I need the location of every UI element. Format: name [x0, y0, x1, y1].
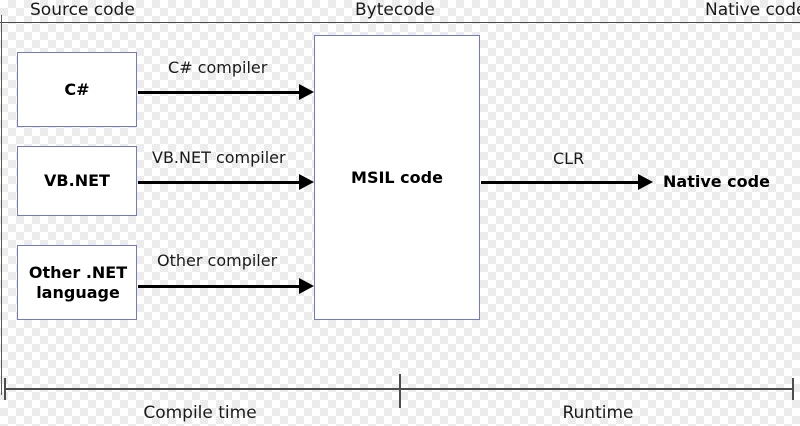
edge-label-clr: CLR [553, 149, 584, 169]
node-csharp[interactable]: C# [17, 52, 137, 127]
top-divider-line [0, 22, 800, 23]
arrow-head-icon [638, 174, 653, 190]
arrow-shaft [138, 285, 300, 288]
node-csharp-label: C# [64, 80, 89, 100]
arrow-head-icon [299, 278, 314, 294]
edge-label-vbnet-compiler: VB.NET compiler [152, 148, 286, 168]
column-header-source-code: Source code [30, 0, 135, 21]
arrow-shaft [138, 181, 300, 184]
column-header-bytecode: Bytecode [355, 0, 435, 21]
arrow-csharp-to-msil [138, 85, 314, 99]
timeline-phase-runtime: Runtime [400, 402, 796, 424]
arrow-shaft [481, 181, 639, 184]
node-other-dotnet-language-label: Other .NET language [20, 263, 136, 303]
column-header-native-code: Native code [705, 0, 800, 21]
node-native-code-output: Native code [663, 172, 770, 191]
edge-label-other-compiler: Other compiler [157, 251, 277, 271]
node-other-dotnet-language[interactable]: Other .NET language [17, 245, 137, 320]
arrow-msil-to-native [481, 175, 653, 189]
timeline-phase-compile-time: Compile time [0, 402, 400, 424]
timeline-tick-start [4, 378, 6, 400]
arrow-head-icon [299, 84, 314, 100]
arrow-shaft [138, 91, 300, 94]
edge-label-csharp-compiler: C# compiler [168, 58, 267, 78]
arrow-other-to-msil [138, 279, 314, 293]
node-msil-code[interactable]: MSIL code [314, 35, 480, 320]
diagram-canvas: Source code Bytecode Native code C# VB.N… [0, 0, 800, 426]
node-vbnet[interactable]: VB.NET [17, 146, 137, 216]
timeline: Compile time Runtime [0, 370, 800, 426]
left-border-line [1, 15, 2, 395]
arrow-head-icon [299, 174, 314, 190]
arrow-vbnet-to-msil [138, 175, 314, 189]
node-msil-code-label: MSIL code [351, 168, 443, 188]
node-vbnet-label: VB.NET [44, 171, 110, 191]
timeline-tick-end [792, 378, 794, 400]
